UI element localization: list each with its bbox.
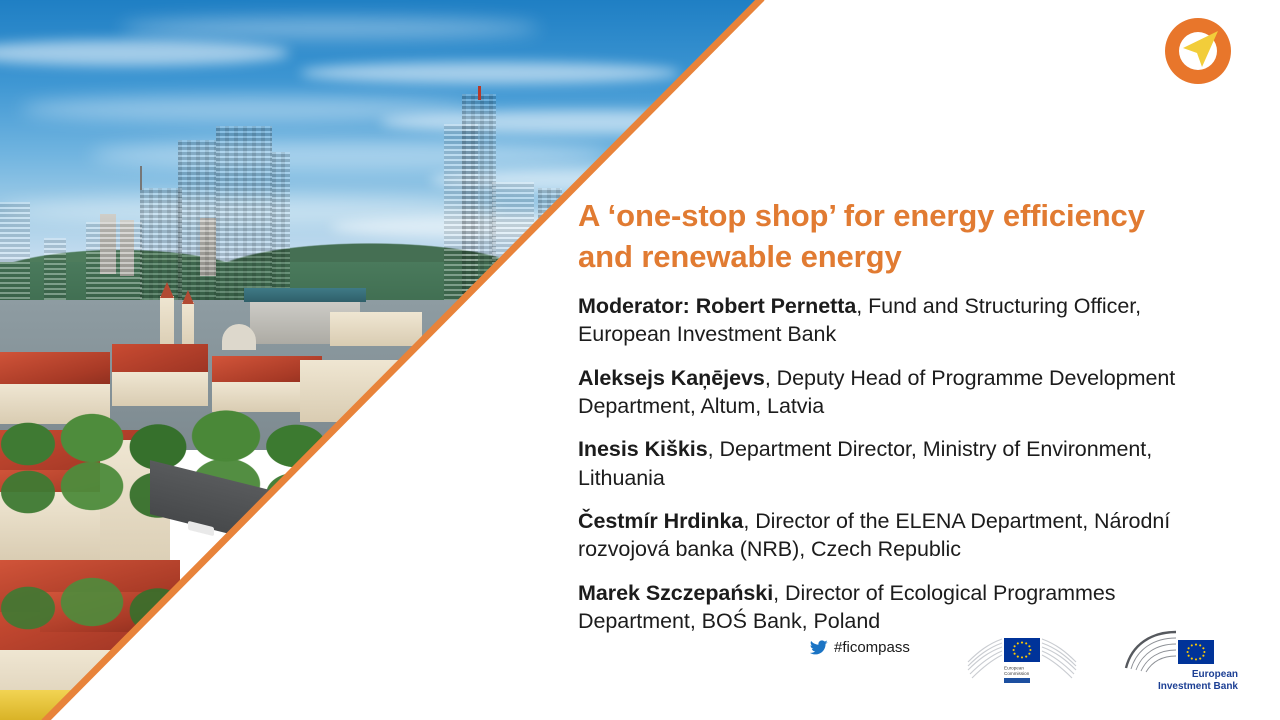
speaker-moderator: Moderator: Robert Pernetta, Fund and Str… bbox=[578, 292, 1226, 349]
speaker-name: Marek Szczepański bbox=[578, 581, 773, 605]
page-title: A ‘one-stop shop’ for energy efficiency … bbox=[578, 196, 1226, 278]
ec-label-line1: European bbox=[1004, 666, 1024, 671]
hashtag-label: #ficompass bbox=[834, 639, 910, 656]
speaker-3: Čestmír Hrdinka, Director of the ELENA D… bbox=[578, 507, 1226, 564]
speaker-1: Aleksejs Kaņējevs, Deputy Head of Progra… bbox=[578, 364, 1226, 421]
twitter-hashtag[interactable]: #ficompass bbox=[809, 639, 910, 656]
eib-label-line2: Investment Bank bbox=[1158, 681, 1238, 692]
european-investment-bank-logo: European Investment Bank bbox=[1122, 628, 1240, 692]
eib-label-line1: European bbox=[1192, 669, 1238, 680]
european-commission-logo: European Commission bbox=[966, 628, 1078, 684]
speaker-name: Moderator: Robert Pernetta bbox=[578, 294, 856, 318]
twitter-bird-icon bbox=[809, 640, 828, 656]
speaker-name: Čestmír Hrdinka bbox=[578, 509, 743, 533]
title-line-2: and renewable energy bbox=[578, 237, 1226, 278]
title-line-1: A ‘one-stop shop’ for energy efficiency bbox=[578, 196, 1226, 237]
fi-compass-logo bbox=[1156, 12, 1240, 90]
ec-label-line2: Commission bbox=[1004, 671, 1030, 676]
speaker-2: Inesis Kiškis, Department Director, Mini… bbox=[578, 435, 1226, 492]
slide-content: A ‘one-stop shop’ for energy efficiency … bbox=[578, 196, 1226, 651]
speaker-name: Aleksejs Kaņējevs bbox=[578, 366, 765, 390]
presentation-slide: A ‘one-stop shop’ for energy efficiency … bbox=[0, 0, 1280, 720]
speaker-name: Inesis Kiškis bbox=[578, 437, 708, 461]
